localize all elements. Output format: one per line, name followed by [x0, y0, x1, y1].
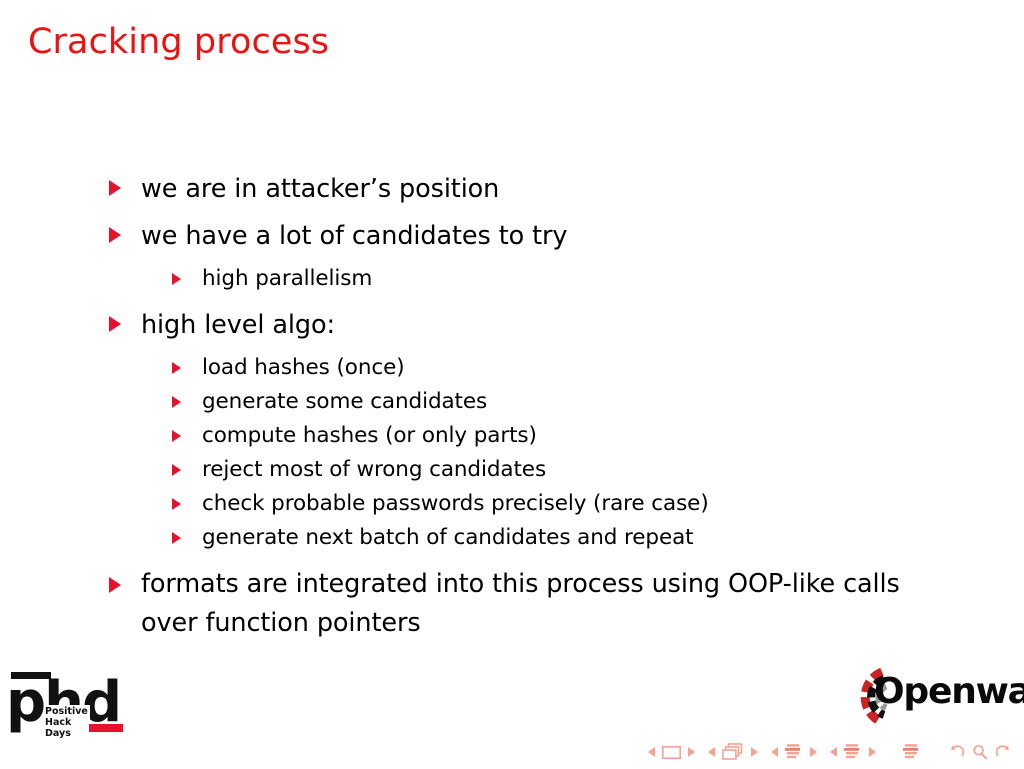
bullet-triangle-icon — [109, 227, 121, 243]
sub-bullet-list: high parallelism — [0, 262, 1024, 296]
sub-bullet-item: generate some candidates — [0, 385, 1024, 419]
bullet-label: high level algo: — [141, 310, 335, 340]
bullet-triangle-icon — [172, 396, 181, 408]
phd-tagline-line1: Positive — [45, 706, 88, 717]
bullet-triangle-icon — [172, 430, 181, 442]
sub-bullet-item: compute hashes (or only parts) — [0, 419, 1024, 453]
bullet-item: we have a lot of candidates to try — [0, 215, 1024, 257]
openwall-wordmark: Openwall — [874, 671, 1024, 713]
bullet-triangle-icon — [172, 273, 181, 285]
stacked-frames-icon[interactable] — [722, 743, 744, 761]
bullet-triangle-icon — [172, 464, 181, 476]
nav-group-document — [903, 743, 921, 761]
nav-group-subsection — [771, 743, 817, 761]
prev-subsection-slides-icon[interactable] — [708, 747, 715, 757]
sub-bullet-label: load hashes (once) — [202, 355, 404, 380]
bullet-item: formats are integrated into this process… — [0, 565, 1024, 643]
phd-red-bar — [89, 724, 123, 732]
bullet-label: we have a lot of candidates to try — [141, 221, 567, 251]
sub-bullet-item: check probable passwords precisely (rare… — [0, 487, 1024, 521]
bullet-item: we are in attacker’s position — [0, 168, 1024, 210]
bullet-triangle-icon — [109, 316, 121, 332]
presentation-slide: Cracking process we are in attacker’s po… — [0, 0, 1024, 769]
bullet-item: high level algo: — [0, 304, 1024, 346]
arrow-forward-icon[interactable] — [995, 744, 1012, 760]
openwall-logo: Openwall — [846, 666, 1021, 728]
nav-group-subsection-slides — [708, 743, 758, 761]
next-subsection-slides-icon[interactable] — [751, 747, 758, 757]
sub-bullet-item: generate next batch of candidates and re… — [0, 521, 1024, 555]
sub-bullet-list: load hashes (once) generate some candida… — [0, 351, 1024, 555]
sub-bullet-item: load hashes (once) — [0, 351, 1024, 385]
sub-bullet-label: check probable passwords precisely (rare… — [202, 491, 709, 516]
next-frame-icon[interactable] — [688, 747, 695, 757]
subsection-lines-icon[interactable] — [785, 743, 803, 761]
search-icon[interactable] — [972, 744, 988, 760]
next-subsection-icon[interactable] — [810, 747, 817, 757]
phd-logo: phd Positive Hack Days — [6, 672, 126, 738]
beamer-navigation-bar[interactable] — [648, 741, 1012, 763]
arrow-back-icon[interactable] — [948, 744, 965, 760]
phd-tagline-line3: Days — [45, 728, 88, 739]
nav-group-section — [830, 743, 876, 761]
bullet-triangle-icon — [109, 577, 121, 593]
prev-subsection-icon[interactable] — [771, 747, 778, 757]
sub-bullet-item: reject most of wrong candidates — [0, 453, 1024, 487]
next-section-icon[interactable] — [869, 747, 876, 757]
bullet-label: formats are integrated into this process… — [141, 569, 900, 638]
sub-bullet-label: compute hashes (or only parts) — [202, 423, 537, 448]
nav-group-frame — [648, 746, 695, 759]
phd-tagline-line2: Hack — [45, 717, 88, 728]
sub-bullet-item: high parallelism — [0, 262, 1024, 296]
sub-bullet-label: high parallelism — [202, 266, 372, 291]
bullet-triangle-icon — [172, 498, 181, 510]
frame-rect-icon[interactable] — [662, 746, 681, 759]
sub-bullet-label: reject most of wrong candidates — [202, 457, 546, 482]
phd-tagline: Positive Hack Days — [44, 705, 90, 740]
section-lines-icon[interactable] — [844, 743, 862, 761]
prev-section-icon[interactable] — [830, 747, 837, 757]
page-title: Cracking process — [28, 22, 329, 62]
bullet-triangle-icon — [172, 362, 181, 374]
bullet-triangle-icon — [109, 180, 121, 196]
sub-bullet-label: generate some candidates — [202, 389, 487, 414]
prev-frame-icon[interactable] — [648, 747, 655, 757]
document-lines-icon[interactable] — [903, 743, 921, 761]
sub-bullet-label: generate next batch of candidates and re… — [202, 525, 694, 550]
nav-group-history — [948, 744, 1012, 760]
bullet-triangle-icon — [172, 532, 181, 544]
slide-body: we are in attacker’s position we have a … — [0, 168, 1024, 648]
bullet-label: we are in attacker’s position — [141, 174, 499, 204]
